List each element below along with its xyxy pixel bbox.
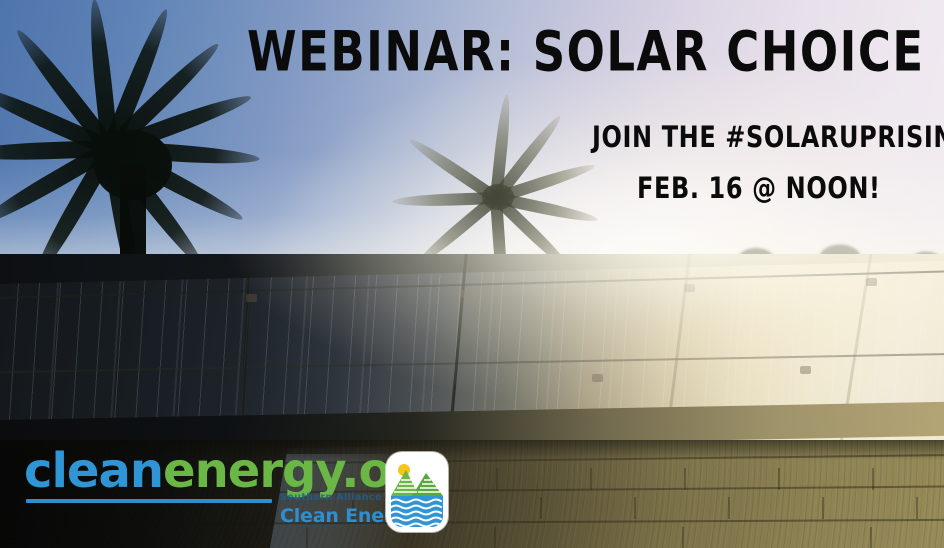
panel-clamp	[800, 366, 811, 374]
subtitle-datetime: FEB. 16 @ NOON!	[637, 173, 881, 202]
solar-panel-array	[0, 254, 944, 454]
cleanenergy-logo[interactable]: cleanenergy.org Southern Alliance for Cl…	[24, 447, 444, 539]
page-title: WEBINAR: SOLAR CHOICE IN 2017	[247, 24, 944, 79]
webinar-promo-graphic: WEBINAR: SOLAR CHOICE IN 2017 JOIN THE #…	[0, 0, 944, 548]
logo-wordmark: cleanenergy.org	[24, 447, 446, 495]
badge-artwork	[386, 452, 448, 532]
logo-tagline-small: Southern Alliance for	[280, 492, 402, 503]
sun-mountains-water-icon	[386, 452, 448, 532]
panel-clamp	[246, 294, 257, 302]
logo-underline-rule	[26, 499, 272, 503]
panel-clamp	[460, 290, 471, 298]
panel-clamp	[684, 284, 695, 292]
logo-word-clean: clean	[24, 443, 163, 499]
panel-clamp	[592, 374, 603, 382]
logo-word-energy: energy	[163, 443, 341, 499]
panel-clamp	[866, 278, 877, 286]
subtitle-hashtag: JOIN THE #SOLARUPRISING	[592, 122, 944, 151]
